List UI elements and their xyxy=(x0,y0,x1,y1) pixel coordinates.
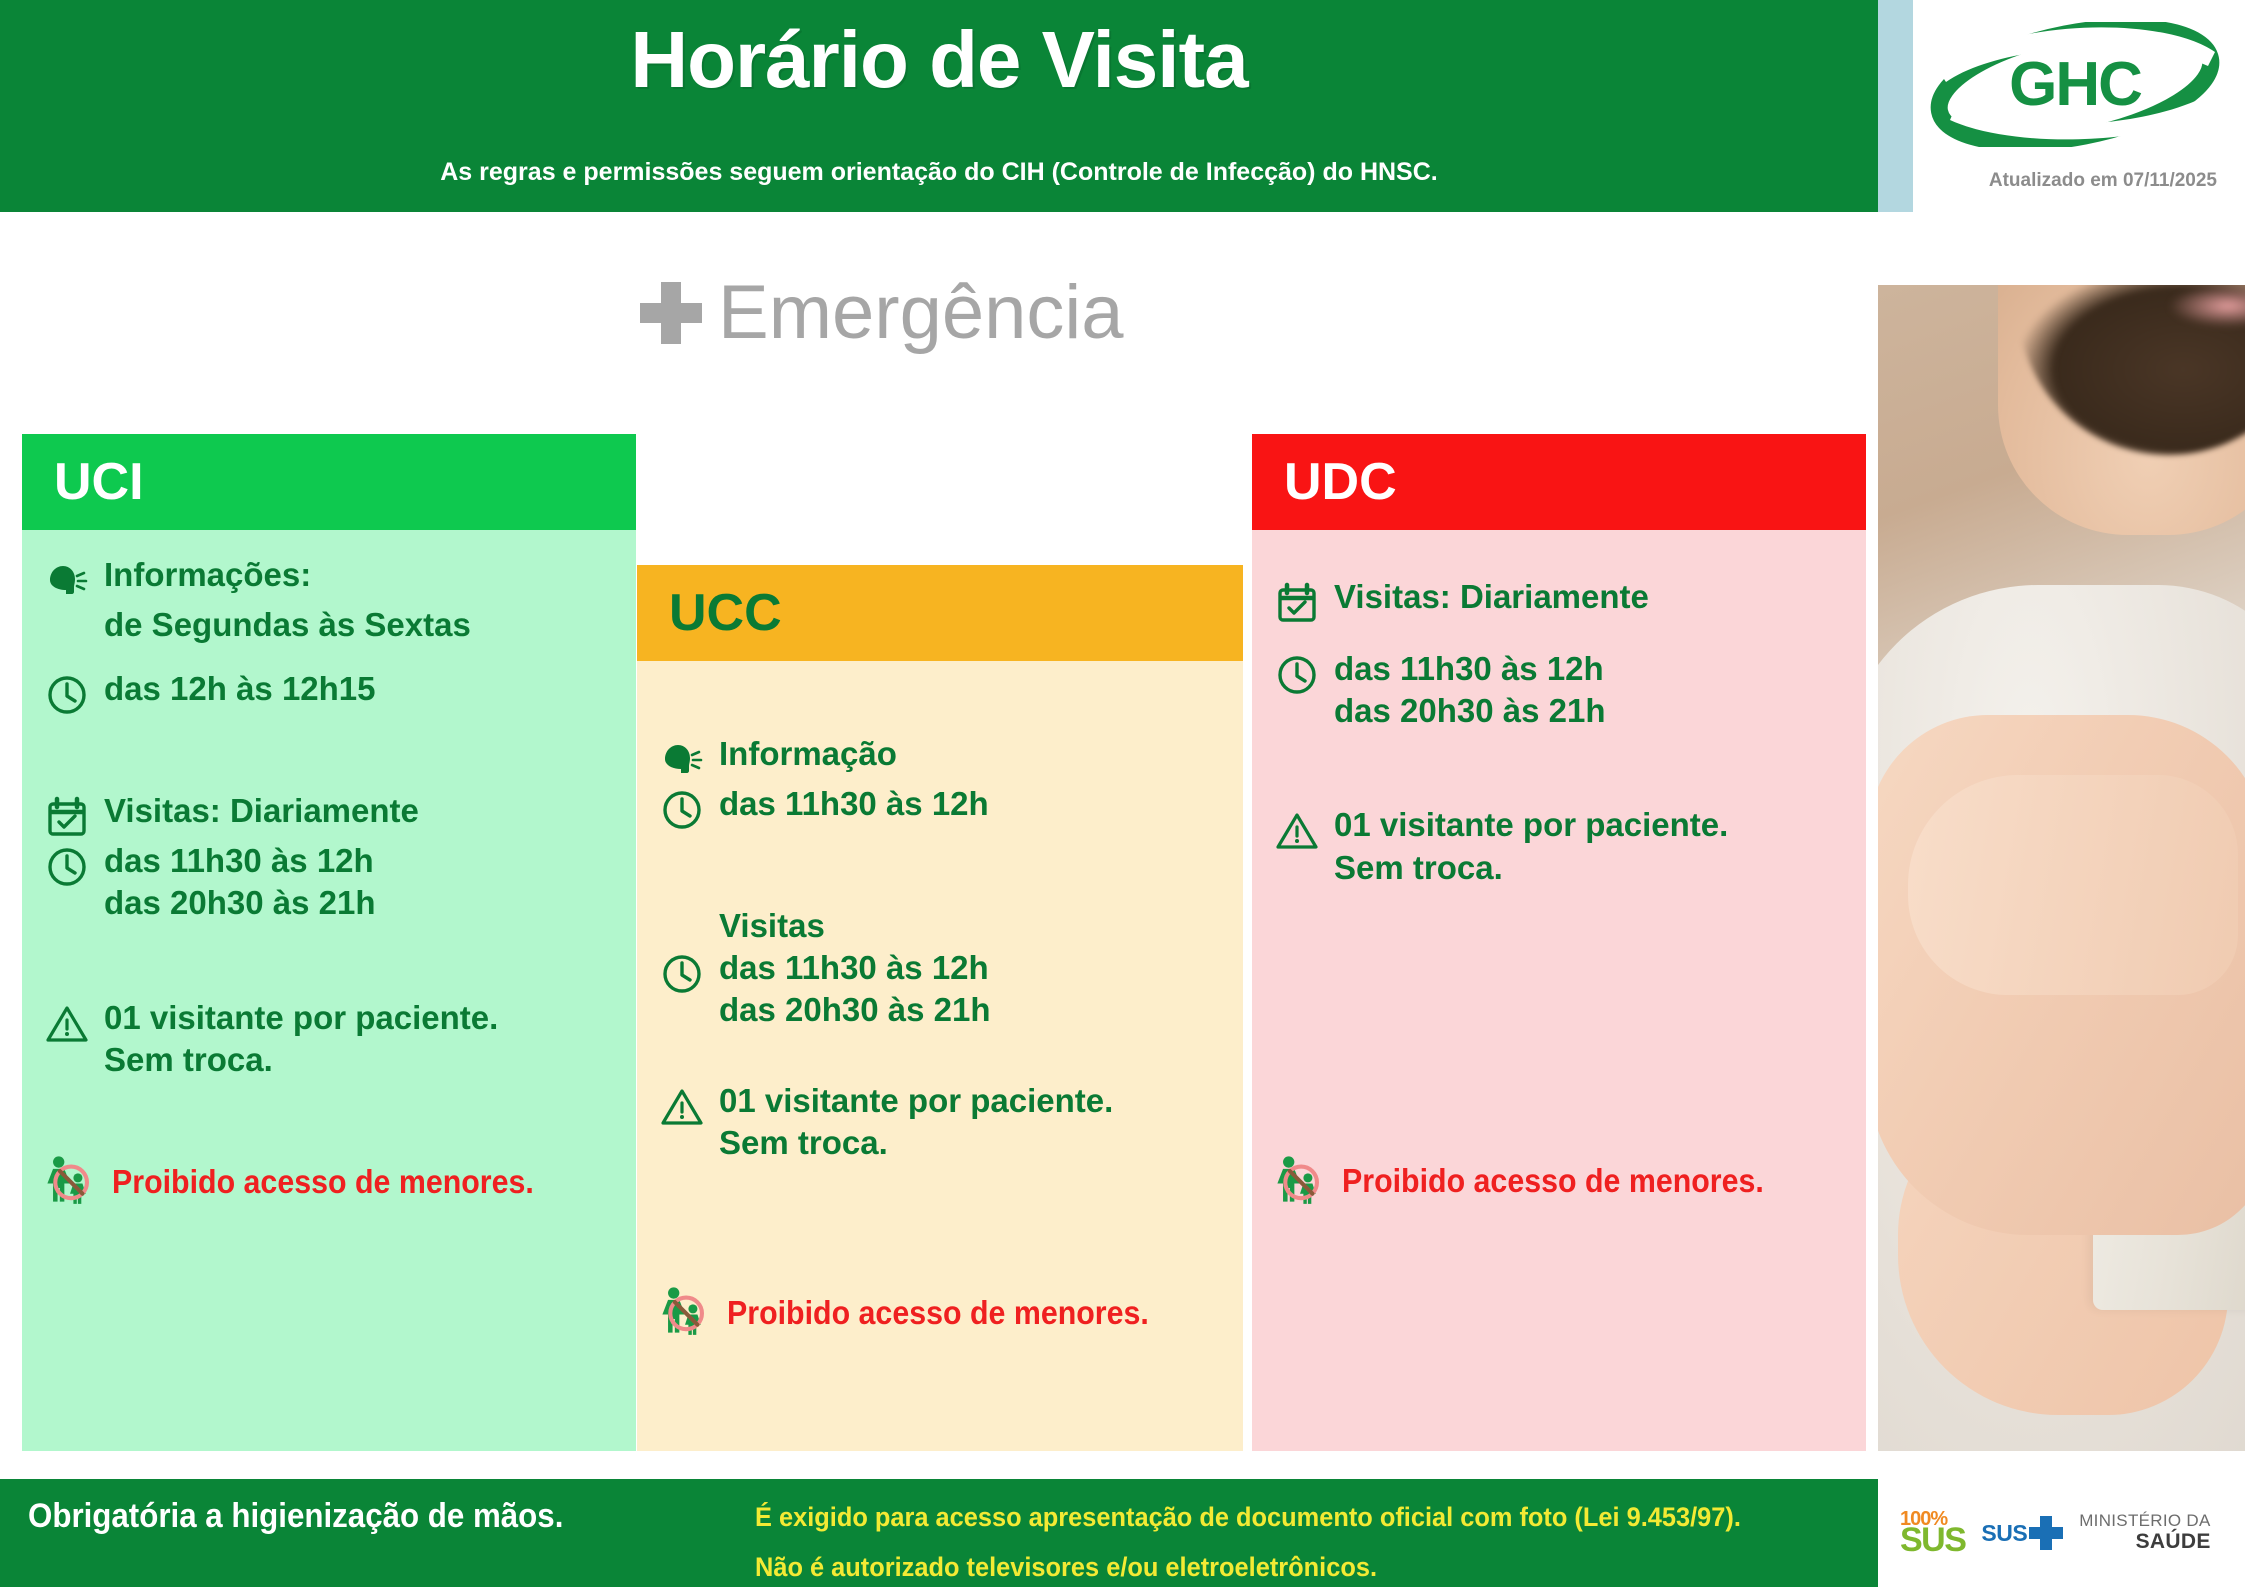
udc-visits-row: Visitas: Diariamente xyxy=(1274,576,1844,626)
sus-cross-icon xyxy=(2029,1516,2063,1550)
uci-warning-line-2: Sem troca. xyxy=(104,1041,273,1078)
speaking-head-icon xyxy=(44,558,90,604)
card-ucc-title: UCC xyxy=(637,565,1243,661)
footer-rule-2: Não é autorizado televisores e/ou eletro… xyxy=(755,1543,1798,1587)
warning-triangle-icon xyxy=(1274,808,1320,854)
footer-rules: É exigido para acesso apresentação de do… xyxy=(755,1493,1798,1587)
ucc-warning-line-1: 01 visitante por paciente. xyxy=(719,1082,1113,1119)
uci-ban-row: Proibido acesso de menores. xyxy=(44,1153,614,1210)
cross-icon xyxy=(640,282,702,344)
ucc-info-row: Informação xyxy=(659,733,1221,783)
udc-warning-line-2: Sem troca. xyxy=(1334,849,1503,886)
udc-visits-time-row: das 11h30 às 12h das 20h30 às 21h xyxy=(1274,648,1844,732)
ucc-warning-line-2: Sem troca. xyxy=(719,1124,888,1161)
card-udc-body: Visitas: Diariamente das 11h30 às 12h da… xyxy=(1252,530,1866,1451)
uci-info-days-row: de Segundas às Sextas xyxy=(104,604,614,646)
ministry-logo: MINISTÉRIO DA SAÚDE xyxy=(2079,1512,2210,1553)
ucc-visits-time-2: das 20h30 às 21h xyxy=(719,991,991,1028)
poster-root: Horário de Visita As regras e permissões… xyxy=(0,0,2245,1587)
last-updated: Atualizado em 07/11/2025 xyxy=(1915,170,2235,192)
header-accent-strip xyxy=(1878,0,1913,212)
uci-info-label: Informações: xyxy=(104,554,311,596)
section-title: Emergência xyxy=(718,275,1124,351)
card-uci-title: UCI xyxy=(22,434,636,530)
clock-icon xyxy=(659,787,705,833)
hand-hygiene-photo xyxy=(1878,285,2245,1451)
speaking-head-icon xyxy=(659,737,705,783)
uci-visits-time-row: das 11h30 às 12h das 20h30 às 21h xyxy=(44,840,614,924)
udc-warning-row: 01 visitante por paciente. Sem troca. xyxy=(1274,804,1844,888)
calendar-check-icon xyxy=(44,794,90,840)
clock-icon xyxy=(44,672,90,718)
uci-info-days: de Segundas às Sextas xyxy=(104,604,471,646)
clock-icon xyxy=(659,951,705,997)
ucc-info-time-row: das 11h30 às 12h xyxy=(659,783,1221,833)
udc-ban-text: Proibido acesso de menores. xyxy=(1342,1162,1764,1200)
ucc-ban-text: Proibido acesso de menores. xyxy=(727,1294,1149,1332)
card-uci-body: Informações: de Segundas às Sextas das 1… xyxy=(22,530,636,1451)
sus-label: SUS xyxy=(1981,1520,2027,1547)
udc-ban-row: Proibido acesso de menores. xyxy=(1274,1153,1844,1210)
sus-100-bottom: SUS xyxy=(1900,1527,1965,1555)
footer-hand-hygiene-text: Obrigatória a higienização de mãos. xyxy=(28,1497,617,1536)
page-subtitle: As regras e permissões seguem orientação… xyxy=(0,158,1878,187)
svg-text:GHC: GHC xyxy=(2009,50,2142,119)
no-minors-icon xyxy=(1274,1153,1326,1210)
clock-icon xyxy=(44,844,90,890)
sus-logo: SUS xyxy=(1981,1516,2063,1550)
uci-info-time: das 12h às 12h15 xyxy=(104,668,376,710)
ucc-info-label: Informação xyxy=(719,733,897,775)
page-title: Horário de Visita xyxy=(0,18,1878,102)
warning-triangle-icon xyxy=(659,1084,705,1130)
section-header: Emergência xyxy=(640,275,1124,351)
ministry-line-1: MINISTÉRIO DA xyxy=(2079,1512,2210,1530)
warning-triangle-icon xyxy=(44,1001,90,1047)
footer-rule-1: É exigido para acesso apresentação de do… xyxy=(755,1493,1798,1543)
uci-warning-line-1: 01 visitante por paciente. xyxy=(104,999,498,1036)
udc-visits-label: Visitas: Diariamente xyxy=(1334,576,1649,618)
ghc-logo: GHC xyxy=(1930,22,2220,147)
ucc-warning-row: 01 visitante por paciente. Sem troca. xyxy=(659,1080,1221,1164)
card-ucc: UCC Informação da xyxy=(637,565,1243,1451)
uci-ban-text: Proibido acesso de menores. xyxy=(112,1163,534,1201)
udc-visits-time-2: das 20h30 às 21h xyxy=(1334,692,1606,729)
calendar-check-icon xyxy=(1274,580,1320,626)
sus-100-logo: 100% SUS xyxy=(1900,1511,1965,1555)
uci-warning-row: 01 visitante por paciente. Sem troca. xyxy=(44,997,614,1081)
ucc-visits-label: Visitas xyxy=(719,905,825,947)
uci-info-row: Informações: xyxy=(44,554,614,604)
uci-visits-label: Visitas: Diariamente xyxy=(104,790,419,832)
uci-visits-time-1: das 11h30 às 12h xyxy=(104,842,374,879)
card-ucc-body: Informação das 11h30 às 12h Visitas xyxy=(637,661,1243,1451)
uci-visits-row: Visitas: Diariamente xyxy=(44,790,614,840)
ucc-info-time: das 11h30 às 12h xyxy=(719,783,989,825)
card-udc: UDC Visitas: Diariamente xyxy=(1252,434,1866,1451)
ucc-visits-label-row: Visitas xyxy=(719,905,1221,947)
ucc-visits-time-row: das 11h30 às 12h das 20h30 às 21h xyxy=(659,947,1221,1031)
ministry-line-2: SAÚDE xyxy=(2079,1531,2210,1554)
uci-info-time-row: das 12h às 12h15 xyxy=(44,668,614,718)
ucc-visits-time-1: das 11h30 às 12h xyxy=(719,949,989,986)
card-uci: UCI Informações: de Segundas às Sextas xyxy=(22,434,636,1451)
footer-logos: 100% SUS SUS MINISTÉRIO DA SAÚDE xyxy=(1878,1479,2245,1587)
no-minors-icon xyxy=(659,1284,711,1341)
no-minors-icon xyxy=(44,1153,96,1210)
udc-warning-line-1: 01 visitante por paciente. xyxy=(1334,806,1728,843)
clock-icon xyxy=(1274,652,1320,698)
udc-visits-time-1: das 11h30 às 12h xyxy=(1334,650,1604,687)
ucc-ban-row: Proibido acesso de menores. xyxy=(659,1284,1221,1341)
uci-visits-time-2: das 20h30 às 21h xyxy=(104,884,376,921)
card-udc-title: UDC xyxy=(1252,434,1866,530)
